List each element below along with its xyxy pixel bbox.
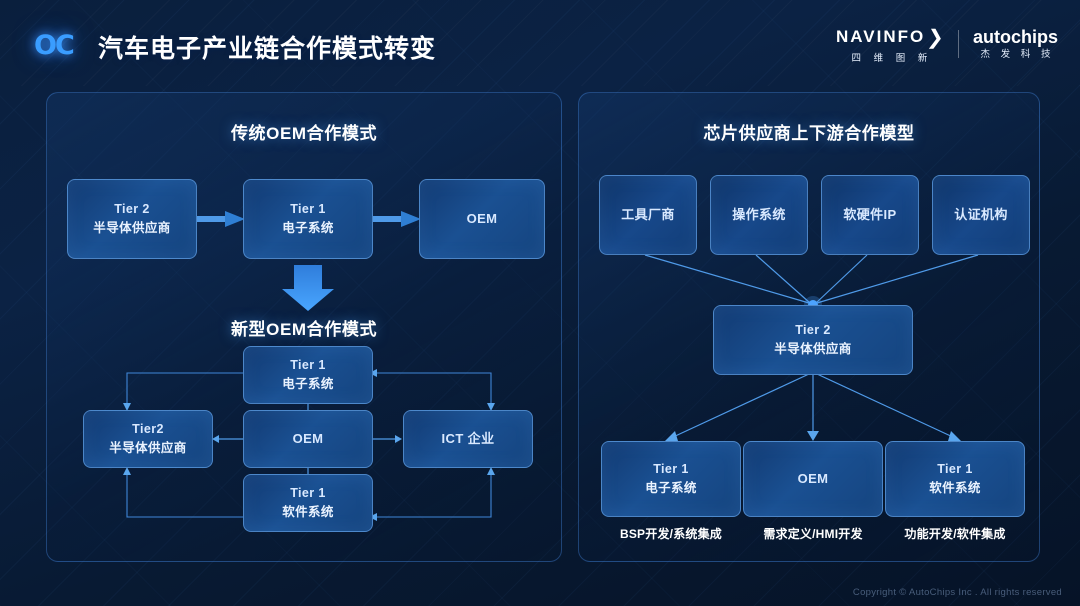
- box-line-1: 工具厂商: [621, 205, 675, 225]
- box-line-1: 认证机构: [954, 205, 1008, 225]
- box-line-1: Tier 2: [795, 321, 831, 340]
- box-oem-modern[interactable]: OEM: [243, 410, 373, 468]
- copyright-text: Copyright © AutoChips Inc . All rights r…: [853, 587, 1062, 598]
- box-tier2-semiconductor-traditional[interactable]: Tier 2 半导体供应商: [67, 179, 197, 259]
- box-line-1: Tier 1: [290, 356, 326, 375]
- navinfo-chinese-name: 四 维 图 新: [848, 53, 933, 64]
- box-line-2: 软件系统: [282, 503, 334, 522]
- box-line-2: 软件系统: [929, 479, 981, 498]
- caption-function-software: 功能开发/软件集成: [885, 525, 1025, 542]
- brand-divider: [958, 30, 959, 58]
- box-line-1: Tier 2: [114, 200, 150, 219]
- box-line-1: OEM: [467, 209, 498, 229]
- brand-logos: NAVINFO ❯ 四 维 图 新 autochips 杰 发 科 技: [836, 22, 1058, 66]
- box-line-2: 半导体供应商: [93, 219, 170, 238]
- autochips-wordmark: autochips: [973, 28, 1058, 46]
- slide-header: OC 汽车电子产业链合作模式转变 NAVINFO ❯ 四 维 图 新 autoc…: [0, 0, 1080, 86]
- box-tier1-electronics-downstream[interactable]: Tier 1 电子系统: [601, 441, 741, 517]
- caption-requirement-hmi: 需求定义/HMI开发: [743, 525, 883, 542]
- box-ict-enterprise[interactable]: ICT 企业: [403, 410, 533, 468]
- box-line-2: 半导体供应商: [109, 439, 186, 458]
- box-tier2-semiconductor-modern[interactable]: Tier2 半导体供应商: [83, 410, 213, 468]
- box-tier1-software-downstream[interactable]: Tier 1 软件系统: [885, 441, 1025, 517]
- box-tier2-semiconductor-hub[interactable]: Tier 2 半导体供应商: [713, 305, 913, 375]
- box-certification-body[interactable]: 认证机构: [932, 175, 1030, 255]
- autochips-logo: autochips 杰 发 科 技: [973, 28, 1058, 60]
- oc-logo-icon: OC: [34, 30, 73, 61]
- caption-bsp-development: BSP开发/系统集成: [601, 525, 741, 542]
- right-panel: 芯片供应商上下游合作模型 工具厂商 操作系统 软硬件IP 认: [578, 92, 1040, 562]
- page-title: 汽车电子产业链合作模式转变: [98, 29, 436, 65]
- box-line-1: Tier 1: [653, 460, 689, 479]
- box-line-2: 半导体供应商: [774, 340, 851, 359]
- box-line-2: 电子系统: [645, 479, 697, 498]
- autochips-chinese-name: 杰 发 科 技: [977, 49, 1055, 60]
- box-tier1-software-modern[interactable]: Tier 1 软件系统: [243, 474, 373, 532]
- box-hw-sw-ip[interactable]: 软硬件IP: [821, 175, 919, 255]
- box-line-1: Tier 1: [937, 460, 973, 479]
- navinfo-arrow-icon: ❯: [926, 25, 945, 50]
- box-line-1: 操作系统: [732, 205, 786, 225]
- box-oem-downstream[interactable]: OEM: [743, 441, 883, 517]
- navinfo-logo: NAVINFO ❯ 四 维 图 新: [836, 25, 944, 64]
- box-line-1: Tier2: [132, 420, 164, 439]
- slide-canvas: OC 汽车电子产业链合作模式转变 NAVINFO ❯ 四 维 图 新 autoc…: [0, 0, 1080, 606]
- traditional-model-title: 传统OEM合作模式: [47, 119, 561, 144]
- box-tier1-electronics-modern[interactable]: Tier 1 电子系统: [243, 346, 373, 404]
- box-line-1: ICT 企业: [442, 429, 495, 449]
- box-tool-vendor[interactable]: 工具厂商: [599, 175, 697, 255]
- modern-model-title: 新型OEM合作模式: [47, 315, 561, 340]
- box-oem-traditional[interactable]: OEM: [419, 179, 545, 259]
- left-panel: 传统OEM合作模式 Tier 2 半导体供应商 Tier 1 电子系统 OEM: [46, 92, 562, 562]
- navinfo-wordmark: NAVINFO: [836, 28, 925, 46]
- box-operating-system[interactable]: 操作系统: [710, 175, 808, 255]
- box-line-1: OEM: [293, 429, 324, 449]
- box-line-1: 软硬件IP: [843, 205, 896, 225]
- chip-supplier-model-title: 芯片供应商上下游合作模型: [579, 119, 1039, 144]
- box-line-2: 电子系统: [282, 375, 334, 394]
- box-line-1: Tier 1: [290, 484, 326, 503]
- box-line-1: Tier 1: [290, 200, 326, 219]
- box-line-2: 电子系统: [282, 219, 334, 238]
- box-line-1: OEM: [798, 469, 829, 489]
- box-tier1-electronics-traditional[interactable]: Tier 1 电子系统: [243, 179, 373, 259]
